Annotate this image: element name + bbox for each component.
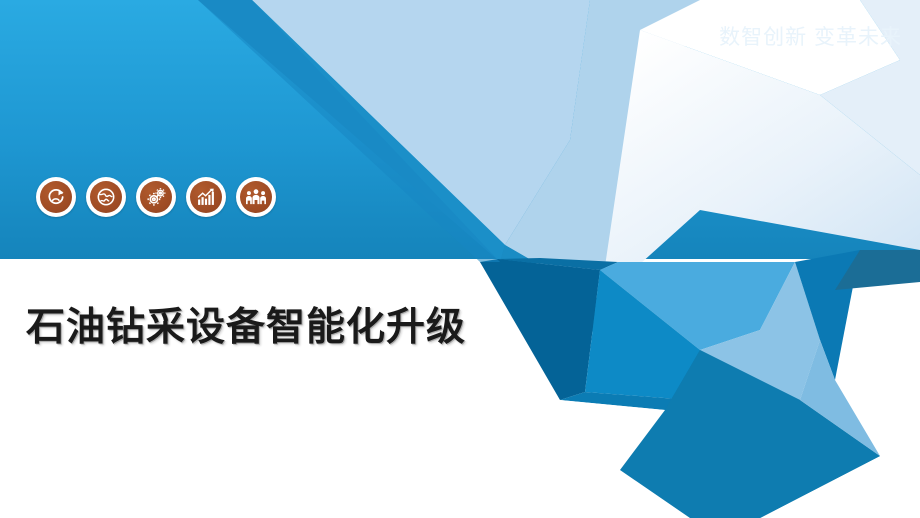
icon-badge-bar-chart-growth[interactable] bbox=[186, 177, 226, 217]
low-poly-background-art bbox=[0, 0, 920, 518]
gears-icon bbox=[140, 181, 172, 213]
page-title: 石油钻采设备智能化升级 bbox=[26, 296, 466, 352]
bar-chart-growth-icon bbox=[190, 181, 222, 213]
icon-strip bbox=[36, 177, 276, 217]
presentation-title-slide: 数智创新 变革未来 bbox=[0, 0, 920, 518]
icon-badge-globe[interactable] bbox=[86, 177, 126, 217]
icon-badge-people-group[interactable] bbox=[236, 177, 276, 217]
globe-icon bbox=[90, 181, 122, 213]
slide-tagline: 数智创新 变革未来 bbox=[719, 27, 902, 48]
people-group-icon bbox=[240, 181, 272, 213]
refresh-cycle-icon bbox=[40, 181, 72, 213]
icon-badge-gears[interactable] bbox=[136, 177, 176, 217]
icon-badge-refresh-cycle[interactable] bbox=[36, 177, 76, 217]
